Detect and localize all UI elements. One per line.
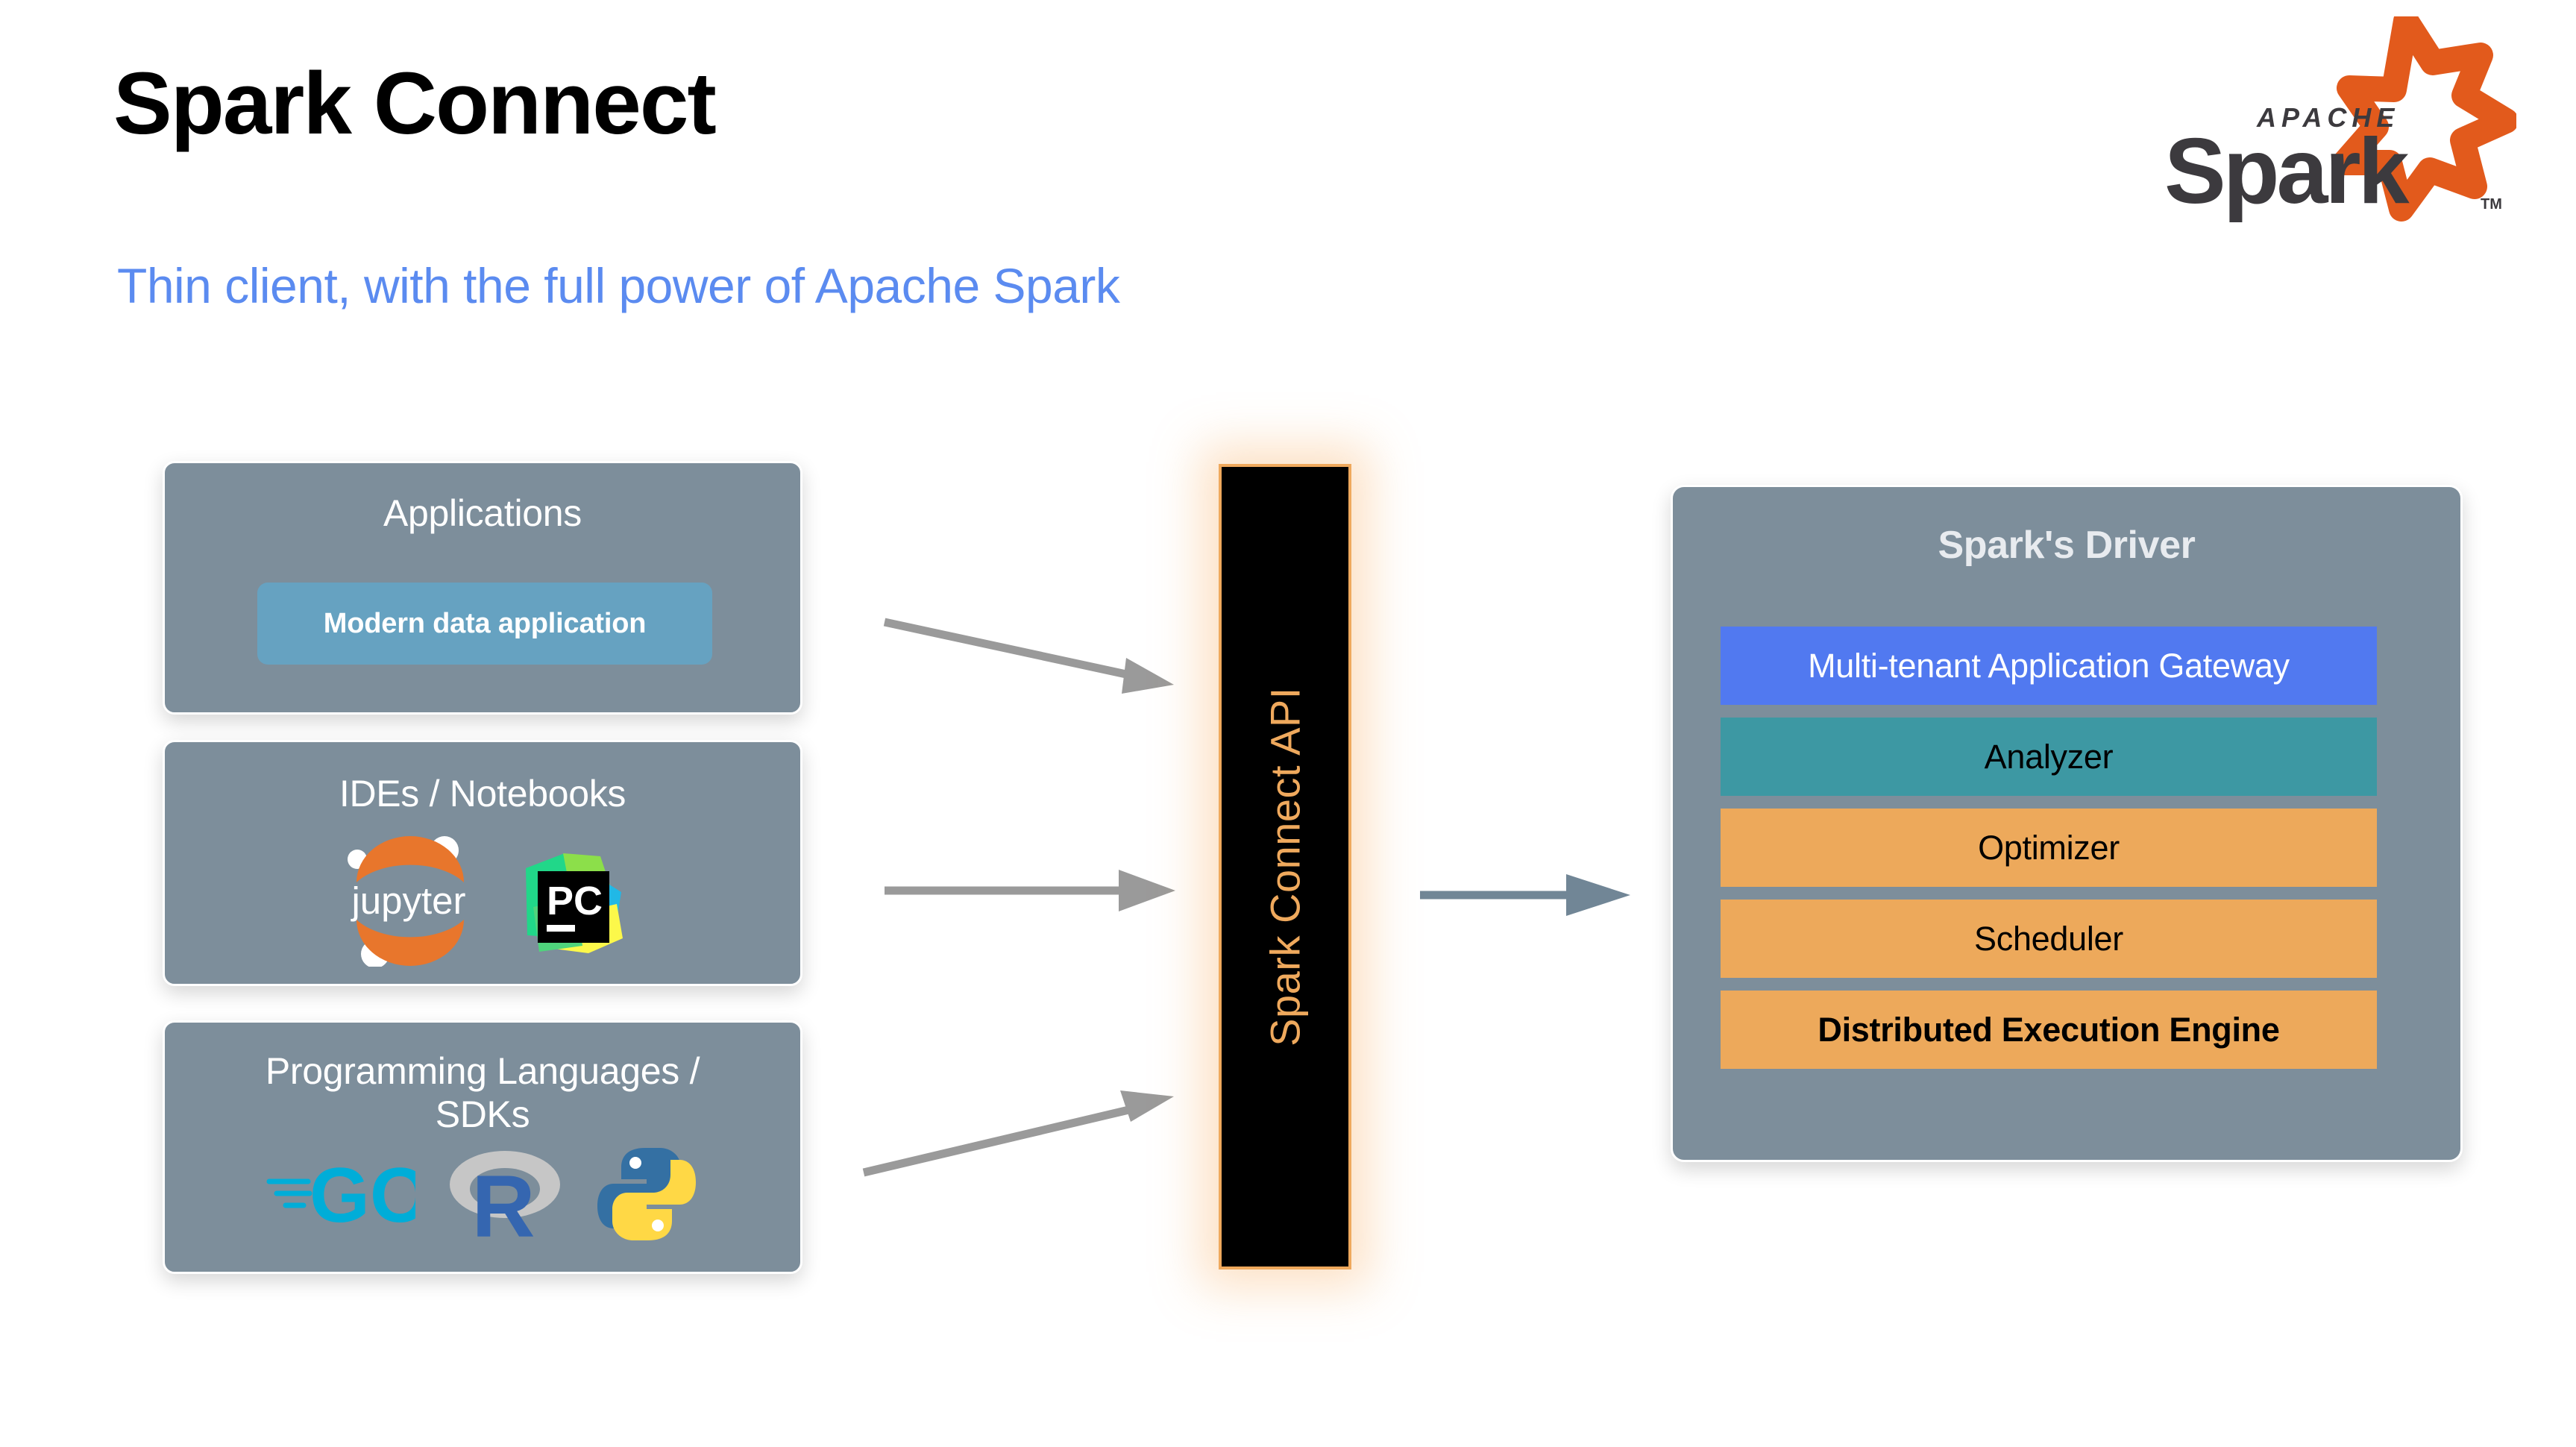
arrow-applications-to-api <box>880 612 1178 716</box>
arrow-head <box>1120 1090 1174 1122</box>
spark-driver-title: Spark's Driver <box>1673 487 2460 568</box>
pycharm-wordmark: PC <box>547 879 603 923</box>
go-logo-svg: GO <box>266 1153 415 1235</box>
jupyter-logo-svg: jupyter <box>338 836 480 967</box>
go-logo: GO <box>266 1153 415 1239</box>
client-box-languages-title: Programming Languages / SDKs <box>165 1023 800 1136</box>
arrow-api-to-driver <box>1417 858 1633 932</box>
language-logo-row: GO R <box>165 1142 800 1250</box>
client-box-ides[interactable]: IDEs / Notebooks jupyter <box>163 740 802 986</box>
go-wordmark: GO <box>310 1153 415 1235</box>
client-box-ides-title: IDEs / Notebooks <box>165 742 800 815</box>
spark-wordmark: Spark <box>2164 120 2410 223</box>
r-wordmark: R <box>471 1158 535 1243</box>
trademark-mark: TM <box>2481 196 2502 213</box>
r-logo-svg: R <box>445 1146 565 1243</box>
spark-connect-api-label: Spark Connect API <box>1261 687 1310 1046</box>
pycharm-logo-svg: PC <box>505 840 628 963</box>
page-title: Spark Connect <box>113 58 715 151</box>
arrow-shaft <box>864 1108 1135 1173</box>
python-eye-yellow <box>652 1220 664 1231</box>
pycharm-logo: PC <box>505 840 628 967</box>
jupyter-wordmark: jupyter <box>350 879 465 922</box>
arrow-languages-to-api <box>858 1044 1178 1178</box>
pycharm-underscore <box>547 925 575 932</box>
client-box-languages-title-line1: Programming Languages / <box>266 1050 700 1092</box>
driver-row-scheduler[interactable]: Scheduler <box>1721 900 2377 978</box>
go-speed-lines <box>269 1181 310 1205</box>
driver-row-optimizer[interactable]: Optimizer <box>1721 809 2377 887</box>
spark-driver-panel[interactable]: Spark's Driver Multi-tenant Application … <box>1671 485 2463 1162</box>
python-logo-svg <box>594 1142 699 1246</box>
apache-spark-logo: APACHE Spark TM <box>2143 16 2516 225</box>
python-eye-blue <box>629 1157 641 1169</box>
arrow-head <box>1566 874 1630 916</box>
arrow-head <box>1122 658 1174 694</box>
driver-component-stack: Multi-tenant Application Gateway Analyze… <box>1721 627 2377 1069</box>
arrow-shaft <box>885 622 1126 674</box>
python-logo <box>594 1142 699 1250</box>
client-box-applications[interactable]: Applications Modern data application <box>163 461 802 715</box>
spark-connect-api-bar[interactable]: Spark Connect API <box>1219 464 1351 1269</box>
arrow-head <box>1119 870 1175 911</box>
client-box-languages[interactable]: Programming Languages / SDKs GO <box>163 1020 802 1274</box>
driver-row-distributed-execution-engine[interactable]: Distributed Execution Engine <box>1721 991 2377 1069</box>
page-subtitle: Thin client, with the full power of Apac… <box>117 257 1119 314</box>
apache-spark-logo-svg: APACHE Spark TM <box>2143 16 2516 225</box>
driver-row-analyzer[interactable]: Analyzer <box>1721 718 2377 796</box>
arrow-ides-to-api <box>880 850 1178 932</box>
jupyter-logo: jupyter <box>338 836 480 970</box>
ide-logo-row: jupyter PC <box>165 836 800 970</box>
slide-canvas: Spark Connect Thin client, with the full… <box>0 0 2576 1447</box>
r-logo: R <box>445 1146 565 1246</box>
client-box-applications-title: Applications <box>165 463 800 535</box>
driver-row-multi-tenant-application-gateway[interactable]: Multi-tenant Application Gateway <box>1721 627 2377 705</box>
client-box-languages-title-line2: SDKs <box>436 1093 530 1135</box>
modern-data-application-chip[interactable]: Modern data application <box>257 583 712 665</box>
